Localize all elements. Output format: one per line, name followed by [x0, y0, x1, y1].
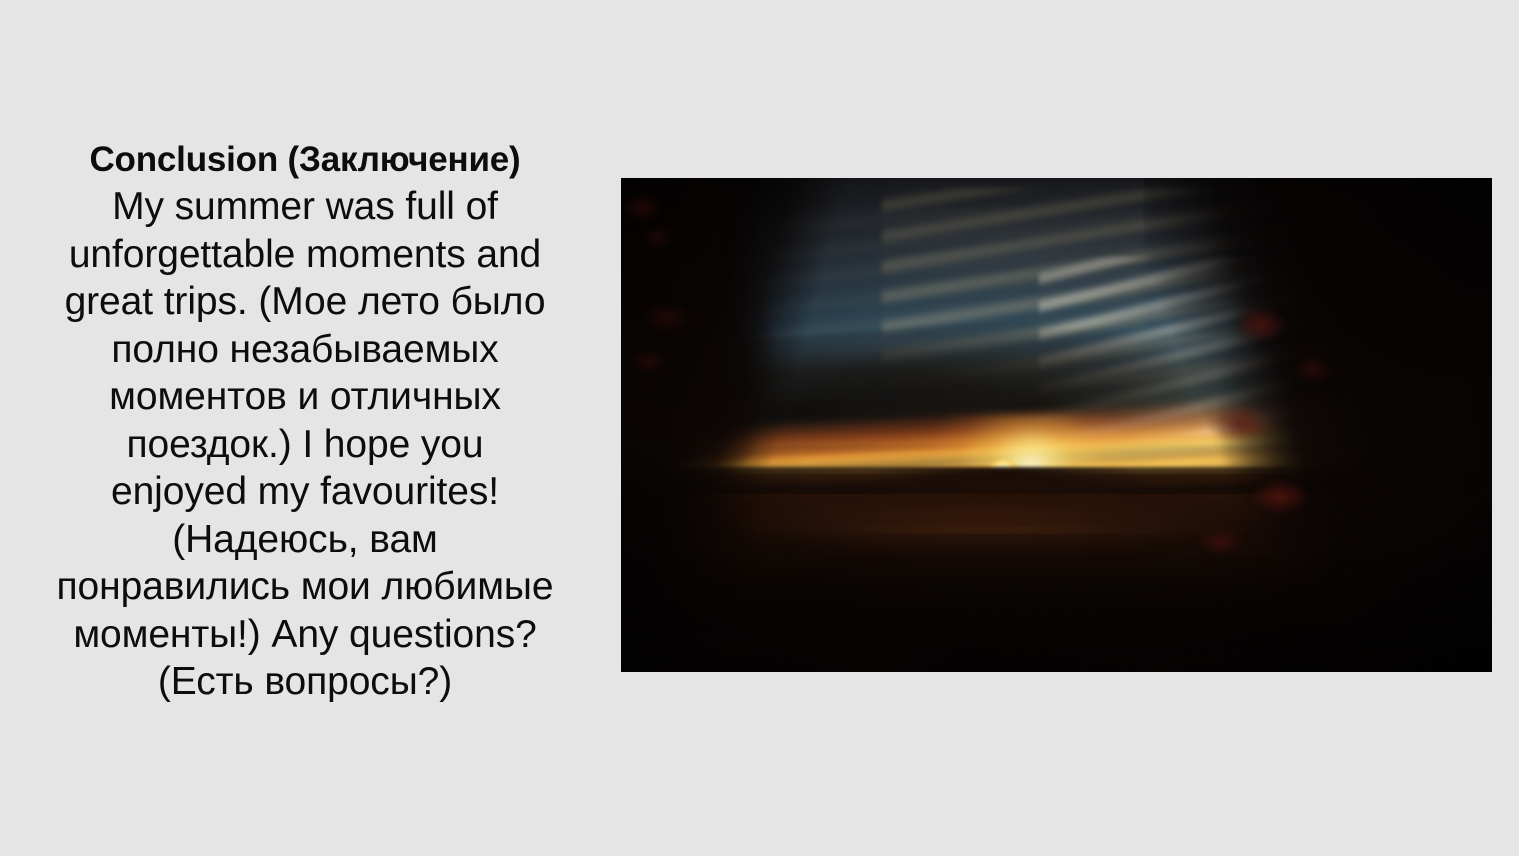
- conclusion-text-block: Conclusion (Заключение) My summer was fu…: [10, 136, 600, 706]
- body-line: enjoyed my favourites!: [10, 468, 600, 516]
- body-line: (Надеюсь, вам: [10, 516, 600, 564]
- presentation-slide: Conclusion (Заключение) My summer was fu…: [0, 0, 1519, 856]
- page-title: Conclusion (Заключение): [10, 136, 600, 183]
- sunset-photo: [621, 178, 1492, 672]
- body-line: My summer was full of: [10, 183, 600, 231]
- conclusion-body-text: My summer was full of unforgettable mome…: [10, 183, 600, 706]
- body-line: моменты!) Any questions?: [10, 611, 600, 659]
- body-line: полно незабываемых: [10, 326, 600, 374]
- body-line: (Есть вопросы?): [10, 658, 600, 706]
- body-line: понравились мои любимые: [10, 563, 600, 611]
- body-line: unforgettable moments and: [10, 231, 600, 279]
- photo-vignette: [621, 178, 1492, 672]
- body-line: моментов и отличных: [10, 373, 600, 421]
- body-line: great trips. (Мое лето было: [10, 278, 600, 326]
- body-line: поездок.) I hope you: [10, 421, 600, 469]
